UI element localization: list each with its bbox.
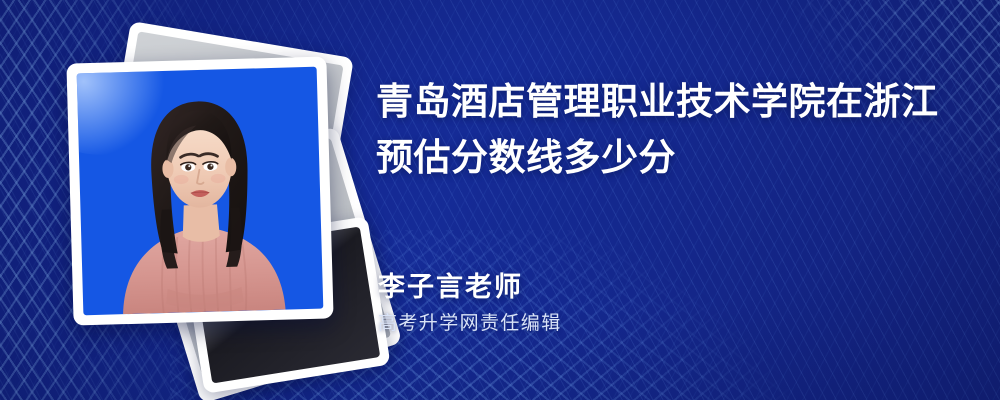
author-role: 高考升学网责任编辑 <box>378 312 562 337</box>
portrait-illustration <box>77 67 324 316</box>
promo-banner: 青岛酒店管理职业技术学院在浙江 预估分数线多少分 李子言老师 高考升学网责任编辑 <box>0 0 1000 400</box>
headline: 青岛酒店管理职业技术学院在浙江 预估分数线多少分 <box>376 74 962 186</box>
headline-line-2: 预估分数线多少分 <box>376 130 962 186</box>
headline-line-1: 青岛酒店管理职业技术学院在浙江 <box>376 74 962 130</box>
author-photo-card <box>66 56 333 325</box>
author-name: 李子言老师 <box>378 270 562 305</box>
photo-card-stack <box>46 34 366 344</box>
author-portrait <box>77 67 324 316</box>
byline: 李子言老师 高考升学网责任编辑 <box>378 270 562 336</box>
